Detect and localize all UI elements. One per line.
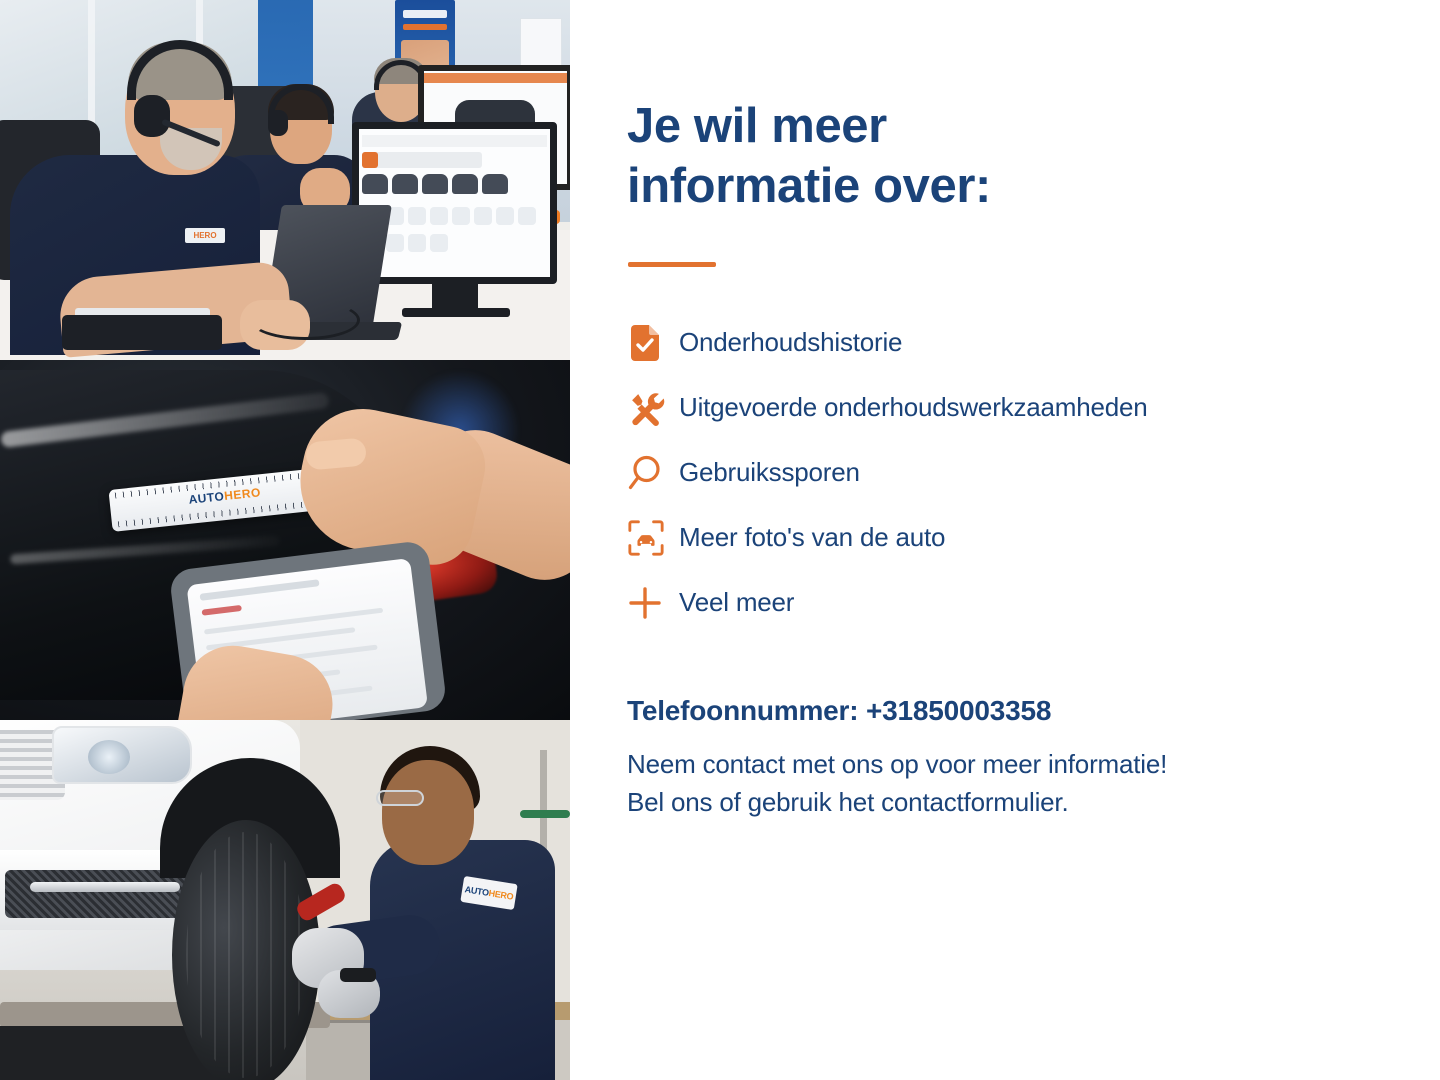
document-check-icon xyxy=(627,324,679,362)
feature-item-veel-meer: Veel meer xyxy=(627,570,1367,635)
car-inspection-photo: AUTOHERO xyxy=(0,360,570,720)
workshop-tire-photo: AUTOHERO xyxy=(0,720,570,1080)
magnifier-icon xyxy=(627,454,679,492)
page-title: Je wil meer informatie over: xyxy=(627,97,1187,217)
headline-line-2: informatie over: xyxy=(627,159,991,213)
tools-icon xyxy=(627,389,679,427)
plus-icon xyxy=(627,585,679,621)
contact-line-2: Bel ons of gebruik het contactformulier. xyxy=(627,787,1068,817)
feature-list: Onderhoudshistorie Ui xyxy=(627,310,1367,635)
promotional-banner: HERO AUTOHERO xyxy=(0,0,1440,1080)
title-divider xyxy=(628,262,716,267)
call-center-agents-photo: HERO xyxy=(0,0,570,360)
content-panel: Je wil meer informatie over: Onderhoudsh… xyxy=(570,0,1440,1080)
feature-label: Gebruikssporen xyxy=(679,457,860,488)
feature-label: Onderhoudshistorie xyxy=(679,327,902,358)
feature-label: Veel meer xyxy=(679,587,794,618)
feature-label: Meer foto's van de auto xyxy=(679,522,945,553)
autohero-logo-patch: HERO xyxy=(185,228,225,243)
feature-item-onderhoudshistorie: Onderhoudshistorie xyxy=(627,310,1367,375)
feature-item-meer-fotos: Meer foto's van de auto xyxy=(627,505,1367,570)
contact-text: Neem contact met ons op voor meer inform… xyxy=(627,745,1357,822)
feature-item-gebruikssporen: Gebruikssporen xyxy=(627,440,1367,505)
car-frame-icon xyxy=(627,519,679,557)
contact-line-1: Neem contact met ons op voor meer inform… xyxy=(627,749,1167,779)
phone-number[interactable]: Telefoonnummer: +31850003358 xyxy=(627,695,1051,727)
feature-item-onderhoudswerkzaamheden: Uitgevoerde onderhoudswerkzaamheden xyxy=(627,375,1367,440)
photo-column: HERO AUTOHERO xyxy=(0,0,570,1080)
headline-line-1: Je wil meer xyxy=(627,99,887,153)
feature-label: Uitgevoerde onderhoudswerkzaamheden xyxy=(679,392,1148,423)
